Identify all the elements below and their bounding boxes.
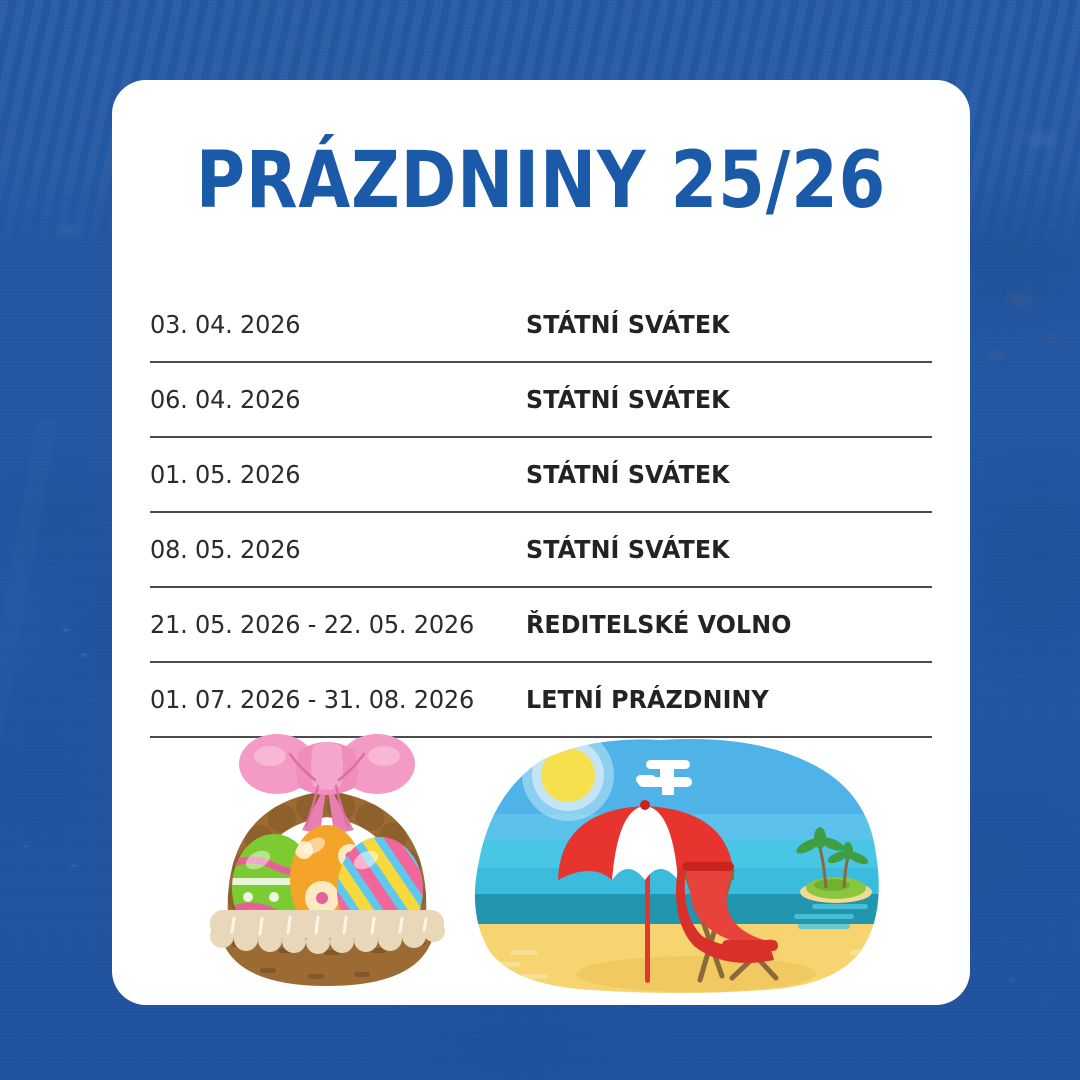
- table-row: 01. 05. 2026 STÁTNÍ SVÁTEK: [150, 438, 932, 513]
- row-label: STÁTNÍ SVÁTEK: [526, 310, 730, 339]
- row-label: STÁTNÍ SVÁTEK: [526, 535, 730, 564]
- content-card: PRÁZDNINY 25/26 03. 04. 2026 STÁTNÍ SVÁT…: [112, 80, 970, 1005]
- row-label: LETNÍ PRÁZDNINY: [526, 685, 769, 714]
- sun-icon: [522, 729, 614, 821]
- row-date: 01. 07. 2026 - 31. 08. 2026: [150, 685, 511, 714]
- table-row: 21. 05. 2026 - 22. 05. 2026 ŘEDITELSKÉ V…: [150, 588, 932, 663]
- easter-basket-icon: [182, 720, 472, 988]
- table-row: 03. 04. 2026 STÁTNÍ SVÁTEK: [150, 288, 932, 363]
- row-date: 01. 05. 2026: [150, 460, 511, 489]
- beach-summer-icon: [464, 728, 896, 996]
- table-row: 06. 04. 2026 STÁTNÍ SVÁTEK: [150, 363, 932, 438]
- row-label: ŘEDITELSKÉ VOLNO: [526, 610, 791, 639]
- poster-root: PRÁZDNINY 25/26 03. 04. 2026 STÁTNÍ SVÁT…: [0, 0, 1080, 1080]
- row-label: STÁTNÍ SVÁTEK: [526, 385, 730, 414]
- table-row: 08. 05. 2026 STÁTNÍ SVÁTEK: [150, 513, 932, 588]
- row-date: 21. 05. 2026 - 22. 05. 2026: [150, 610, 511, 639]
- row-date: 06. 04. 2026: [150, 385, 511, 414]
- row-label: STÁTNÍ SVÁTEK: [526, 460, 730, 489]
- page-title: PRÁZDNINY 25/26: [172, 136, 910, 226]
- holiday-schedule-table: 03. 04. 2026 STÁTNÍ SVÁTEK 06. 04. 2026 …: [150, 288, 932, 738]
- beach-scene: [464, 728, 896, 996]
- illustrations-area: [112, 728, 970, 998]
- row-date: 03. 04. 2026: [150, 310, 511, 339]
- row-date: 08. 05. 2026: [150, 535, 511, 564]
